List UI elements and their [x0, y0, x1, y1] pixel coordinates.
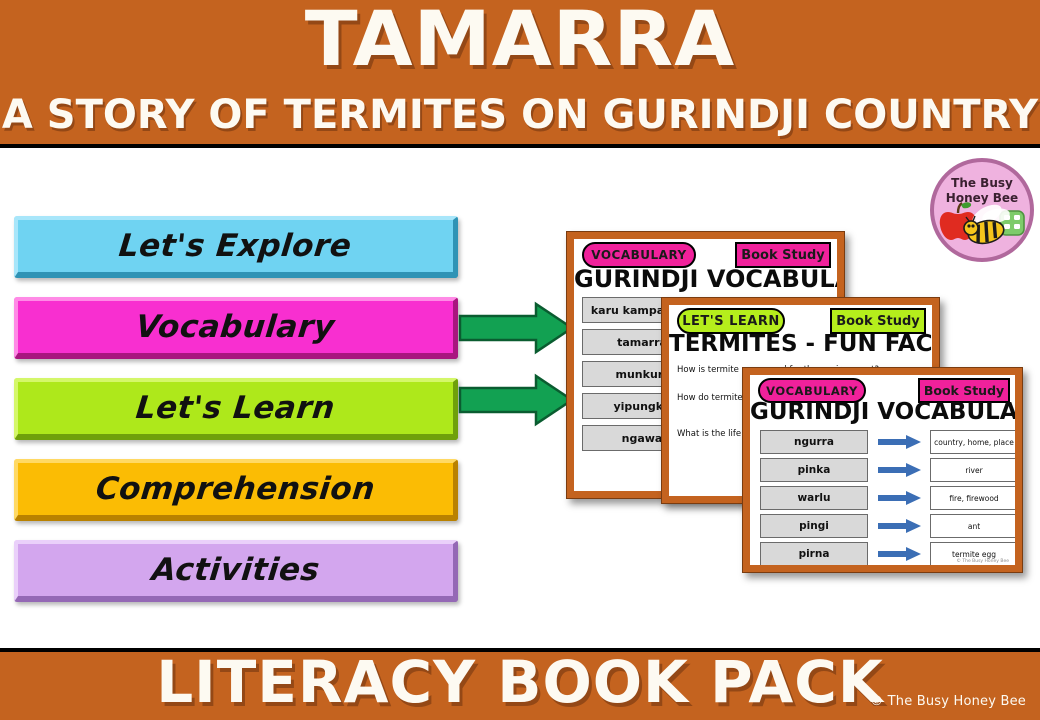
worksheet-title: GURINDJI VOCABULARY	[750, 399, 1015, 425]
brand-logo: The Busy Honey Bee	[930, 158, 1034, 262]
menu-button-lets-explore[interactable]: Let's Explore	[14, 216, 458, 278]
menu-button-label: Vocabulary	[134, 309, 336, 345]
blue-arrow-icon	[878, 519, 922, 533]
blue-arrow-icon	[878, 491, 922, 505]
vocab-term: pirna	[760, 542, 868, 565]
menu-button-label: Let's Explore	[117, 228, 353, 264]
vocab-definition: ant	[930, 514, 1015, 538]
vocab-definition: country, home, place	[930, 430, 1015, 454]
worksheet-credit: © The Busy Honey Bee	[956, 559, 1009, 564]
vocab-term: warlu	[760, 486, 868, 510]
header-banner: TAMARRA A STORY OF TERMITES ON GURINDJI …	[0, 0, 1040, 148]
menu-button-label: Comprehension	[94, 471, 377, 507]
menu-button-comprehension[interactable]: Comprehension	[14, 459, 458, 521]
menu-button-lets-learn[interactable]: Let's Learn	[14, 378, 458, 440]
menu-button-label: Let's Learn	[134, 390, 337, 426]
worksheet-title: TERMITES - FUN FACTS	[669, 331, 932, 357]
menu-button-vocabulary[interactable]: Vocabulary	[14, 297, 458, 359]
page-title: TAMARRA	[0, 0, 1040, 80]
connector-arrow-lets-learn	[458, 372, 576, 428]
worksheet-card-front[interactable]: VOCABULARY Book Study GURINDJI VOCABULAR…	[742, 367, 1023, 573]
vocab-definition: fire, firewood	[930, 486, 1015, 510]
vocab-term: pingi	[760, 514, 868, 538]
product-cover: TAMARRA A STORY OF TERMITES ON GURINDJI …	[0, 0, 1040, 720]
vocab-term: pinka	[760, 458, 868, 482]
footer-credit: © The Busy Honey Bee	[870, 694, 1026, 709]
footer-banner: LITERACY BOOK PACK © The Busy Honey Bee	[0, 648, 1040, 720]
vocab-definition: river	[930, 458, 1015, 482]
page-subtitle: A STORY OF TERMITES ON GURINDJI COUNTRY	[0, 92, 1040, 138]
blue-arrow-icon	[878, 463, 922, 477]
worksheet-title: GURINDJI VOCABULARY	[574, 265, 837, 293]
worksheet-page: VOCABULARY Book Study GURINDJI VOCABULAR…	[750, 375, 1015, 565]
menu-button-activities[interactable]: Activities	[14, 540, 458, 602]
vocab-term: ngurra	[760, 430, 868, 454]
blue-arrow-icon	[878, 547, 922, 561]
connector-arrow-vocabulary	[458, 300, 576, 356]
blue-arrow-icon	[878, 435, 922, 449]
menu-button-label: Activities	[150, 552, 321, 588]
